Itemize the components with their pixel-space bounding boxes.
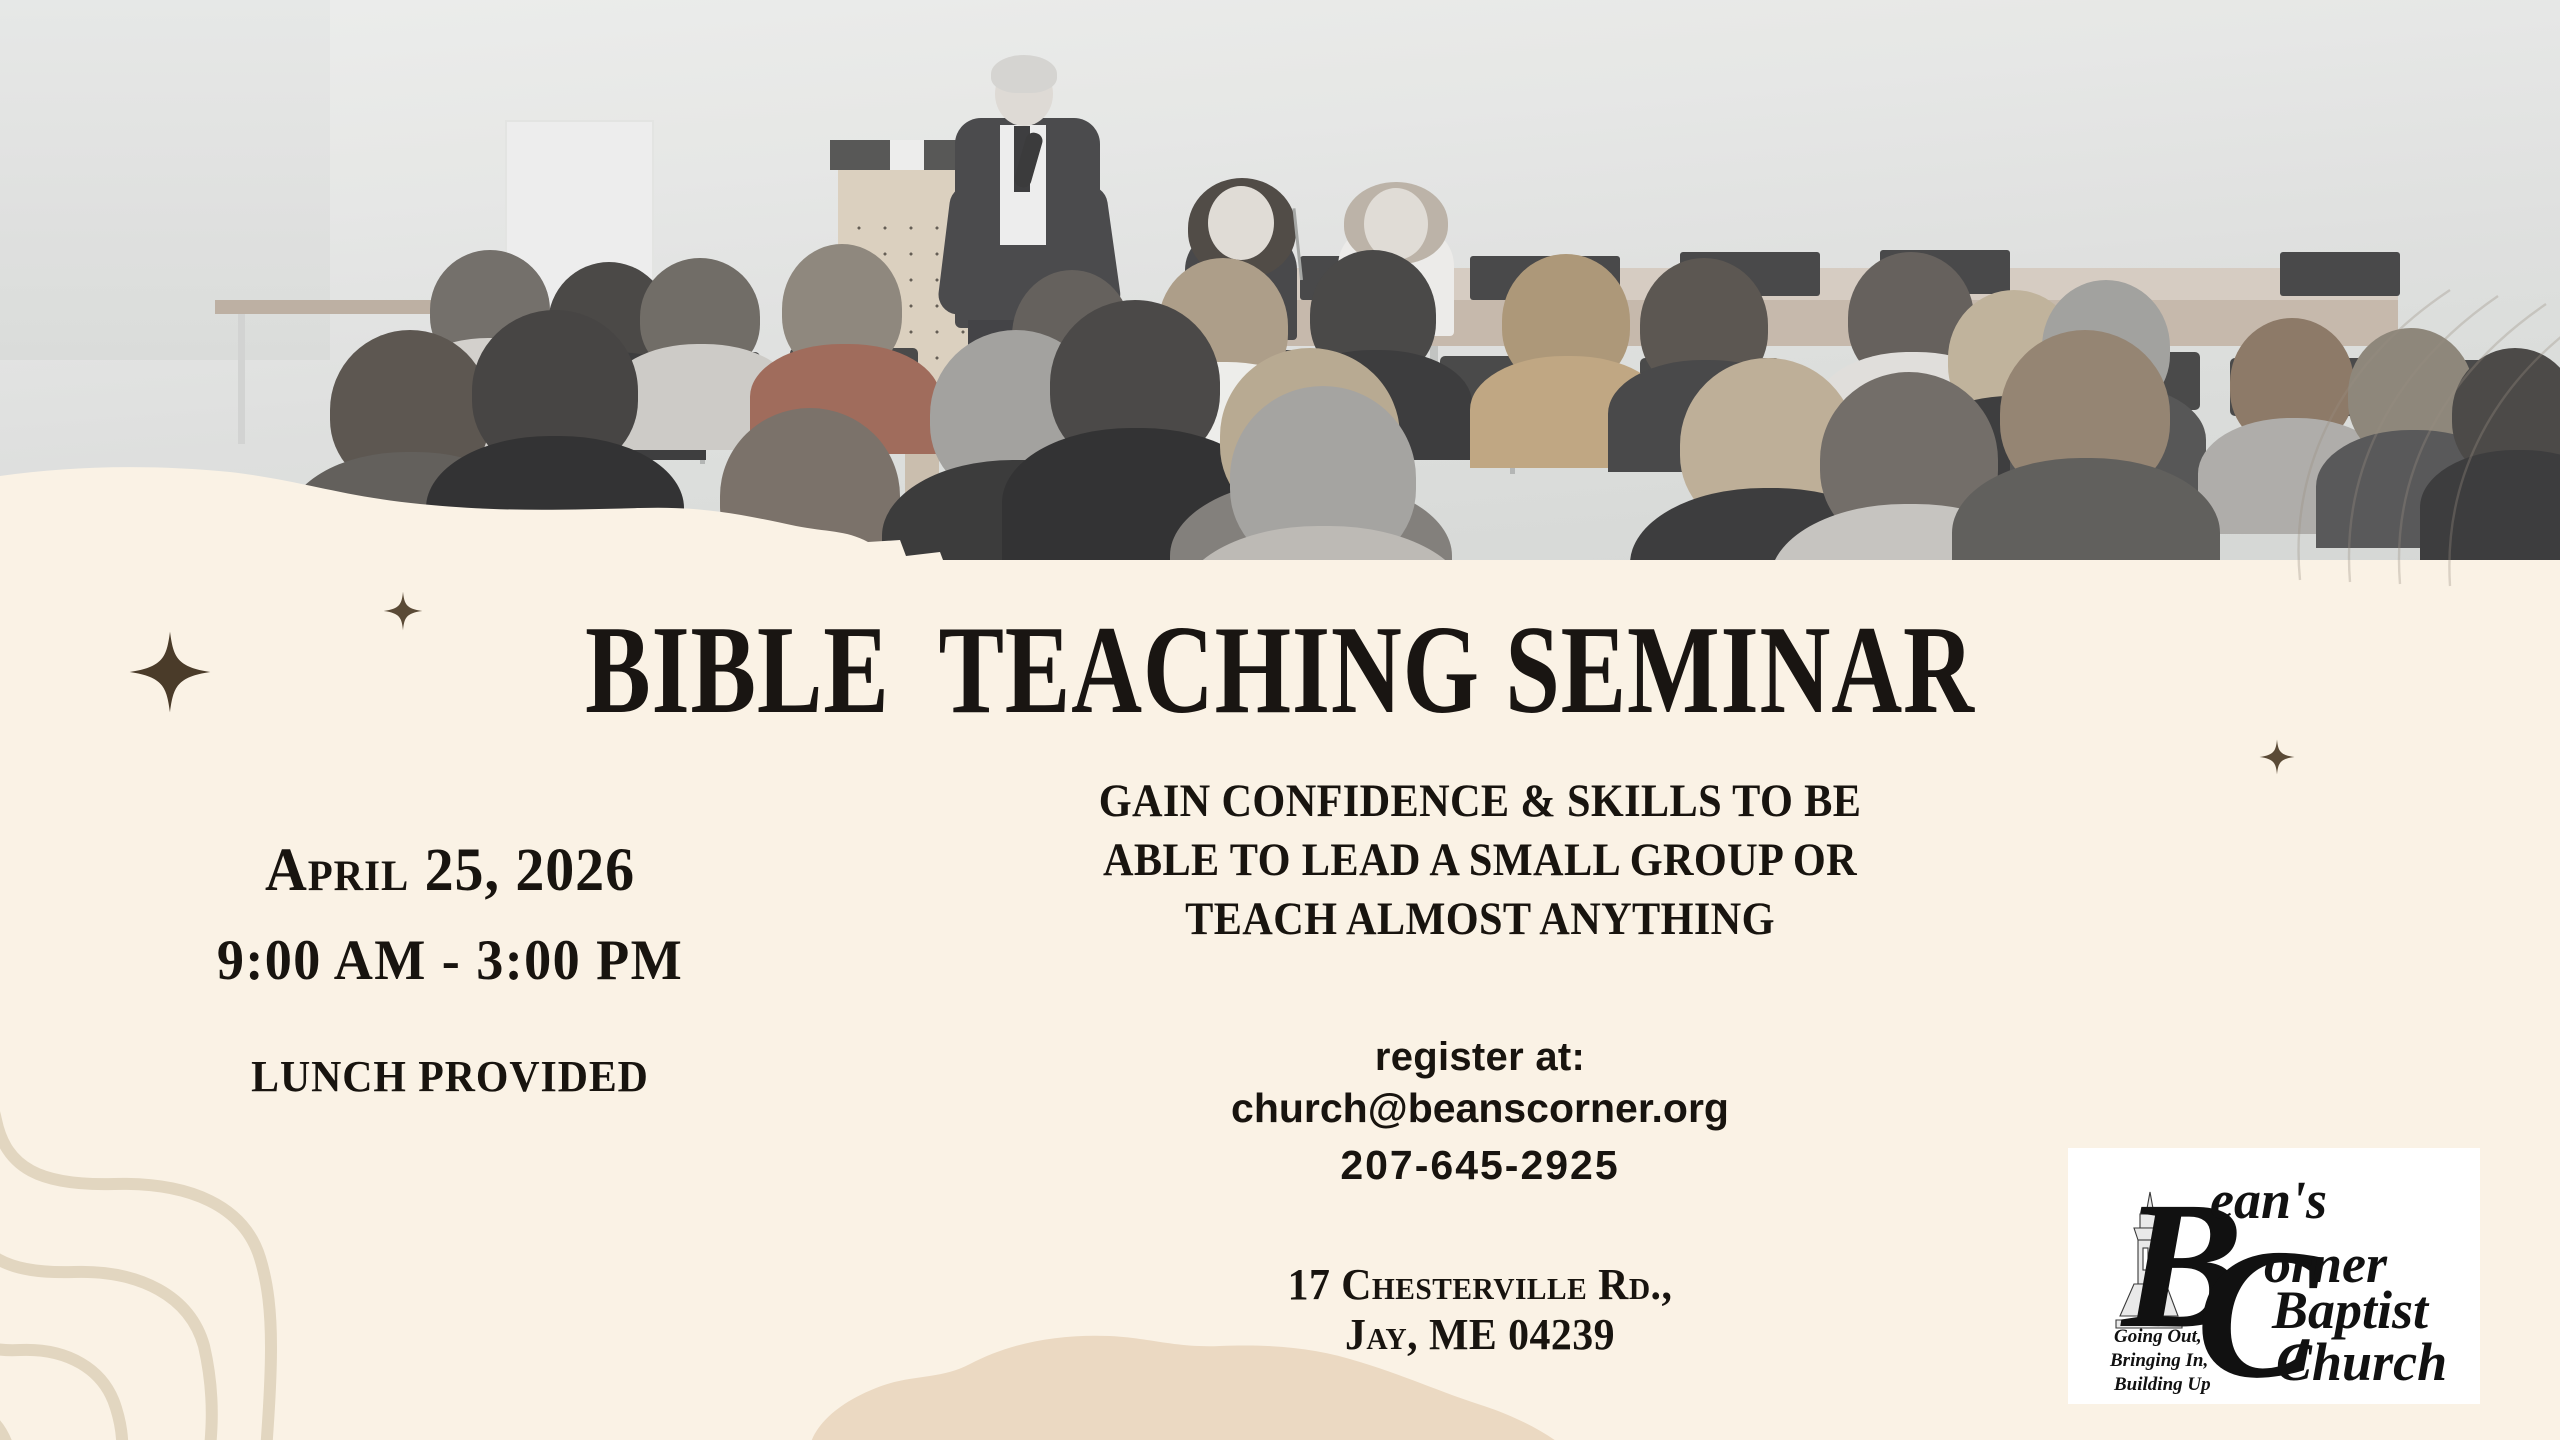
torn-paper-edge [0,380,2560,560]
logo-tagline-line-2: Bringing In, [2109,1350,2208,1371]
logo-word-baptist: Baptist [2271,1280,2430,1340]
event-details-block: April 25, 2026 9:00 AM - 3:00 PM LUNCH P… [90,838,810,1102]
subtitle-line-3: TEACH ALMOST ANYTHING [1030,890,1930,949]
church-logo: B ean's C orner Baptist Church Going Out… [2068,1148,2480,1404]
lunch-note: LUNCH PROVIDED [108,1051,792,1102]
seminar-photo [0,0,2560,560]
photo-podium-notch [890,140,924,170]
address-line-1: 17 Chesterville Rd., [1024,1260,1936,1310]
register-phone[interactable]: 207-645-2925 [1000,1139,1960,1192]
page-title: BIBLE TEACHING SEMINAR [282,608,2279,734]
sparkle-icon [128,630,212,714]
logo-word-church: Church [2276,1332,2447,1392]
event-time: 9:00 AM - 3:00 PM [108,930,792,993]
registration-block: register at: church@beanscorner.org 207-… [1000,1032,1960,1193]
subtitle-line-1: GAIN CONFIDENCE & SKILLS TO BE [1030,772,1930,831]
subtitle-line-2: ABLE TO LEAD A SMALL GROUP OR [1030,831,1930,890]
photo-panelist-head [1208,186,1274,260]
logo-tagline-line-3: Building Up [2113,1374,2211,1395]
logo-tagline-line-1: Going Out, [2114,1326,2202,1347]
church-logo-artwork: B ean's C orner Baptist Church Going Out… [2068,1148,2480,1404]
register-email[interactable]: church@beanscorner.org [1000,1082,1960,1135]
photo-monitor [2280,252,2400,296]
event-date: April 25, 2026 [108,838,792,904]
photo-speaker-hair [991,55,1057,93]
subtitle-block: GAIN CONFIDENCE & SKILLS TO BE ABLE TO L… [1030,772,1930,950]
address-block: 17 Chesterville Rd., Jay, ME 04239 [1024,1260,1936,1360]
sparkle-icon [2258,738,2296,776]
register-label: register at: [1000,1032,1960,1082]
poster-canvas: BIBLE TEACHING SEMINAR GAIN CONFIDENCE &… [0,0,2560,1440]
address-line-2: Jay, ME 04239 [1024,1310,1936,1360]
